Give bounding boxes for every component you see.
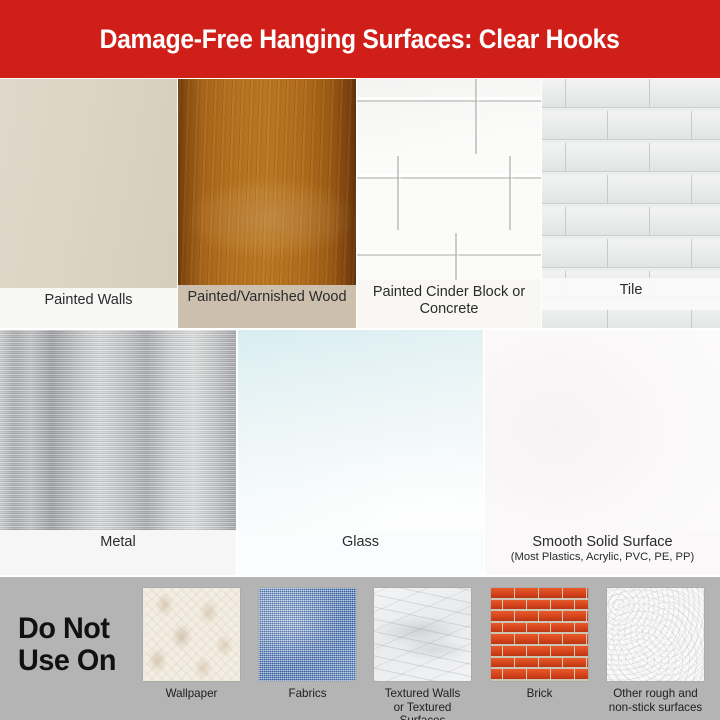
surface-label-text: Tile [620, 282, 643, 298]
do-not-use-caption: Fabrics [256, 687, 359, 701]
brick-swatch [491, 588, 588, 681]
surface-tile-wood: Painted/Varnished Wood [178, 79, 356, 328]
surface-label-text: Painted/Varnished Wood [187, 289, 346, 305]
do-not-use-item-wallpaper: Wallpaper [140, 588, 243, 701]
do-not-use-caption: Wallpaper [140, 687, 243, 701]
surface-tile-metal: Metal [0, 330, 236, 575]
surface-label-text: Painted Walls [44, 292, 132, 308]
fabrics-swatch [259, 588, 356, 681]
surface-label-cinder-block: Painted Cinder Block or Concrete [357, 280, 541, 328]
surface-tile-painted-walls: Painted Walls [0, 79, 177, 328]
tile-separator [483, 330, 485, 575]
caption-line1: Fabrics [288, 687, 326, 700]
do-not-use-caption: Textured Walls or Textured Surfaces [371, 687, 474, 720]
do-not-use-heading: Do Not Use On [18, 613, 133, 677]
caption-line1: Other rough and [613, 687, 697, 700]
do-not-use-heading-line1: Do Not [18, 613, 133, 645]
tile-separator [236, 330, 238, 575]
surface-label-tile: Tile [542, 278, 720, 310]
textured-wall-swatch [374, 588, 471, 681]
surface-guide-infographic: Damage-Free Hanging Surfaces: Clear Hook… [0, 0, 720, 720]
surface-tile-tile: Tile [542, 79, 720, 328]
surface-tile-smooth-solid-surface: Smooth Solid Surface (Most Plastics, Acr… [485, 330, 720, 575]
caption-line1: Textured Walls [385, 687, 461, 700]
do-not-use-heading-line2: Use On [18, 645, 133, 677]
do-not-use-item-fabrics: Fabrics [256, 588, 359, 701]
caption-line2: or Textured Surfaces [394, 701, 452, 720]
surface-sublabel-text: (Most Plastics, Acrylic, PVC, PE, PP) [485, 551, 720, 564]
surface-label-smooth-solid-surface: Smooth Solid Surface (Most Plastics, Acr… [485, 530, 720, 575]
row-separator [0, 575, 720, 577]
surface-tile-cinder-block: Painted Cinder Block or Concrete [357, 79, 541, 328]
do-not-use-item-textured-walls: Textured Walls or Textured Surfaces [371, 588, 474, 720]
do-not-use-caption: Other rough and non-stick surfaces [604, 687, 707, 714]
do-not-use-item-other-rough: Other rough and non-stick surfaces [604, 588, 707, 714]
surface-label-metal: Metal [0, 530, 236, 575]
caption-line1: Brick [527, 687, 553, 700]
header-banner: Damage-Free Hanging Surfaces: Clear Hook… [0, 0, 720, 78]
do-not-use-caption: Brick [488, 687, 591, 701]
tile-separator [177, 79, 178, 328]
tile-separator [356, 79, 357, 328]
surface-label-text: Metal [100, 534, 135, 550]
do-not-use-item-brick: Brick [488, 588, 591, 701]
caption-line2: non-stick surfaces [609, 701, 702, 714]
surface-label-text: Smooth Solid Surface [532, 534, 672, 550]
page-title: Damage-Free Hanging Surfaces: Clear Hook… [100, 24, 620, 55]
caption-line1: Wallpaper [166, 687, 218, 700]
surface-label-glass: Glass [238, 530, 483, 575]
surface-label-text: Painted Cinder Block or Concrete [373, 284, 525, 317]
surface-label-text: Glass [342, 534, 379, 550]
surface-label-painted-walls: Painted Walls [0, 288, 177, 328]
row-separator [0, 328, 720, 330]
surface-label-wood: Painted/Varnished Wood [178, 285, 356, 328]
wallpaper-swatch [143, 588, 240, 681]
rough-stucco-swatch [607, 588, 704, 681]
tile-separator [541, 79, 542, 328]
surface-tile-glass: Glass [238, 330, 483, 575]
